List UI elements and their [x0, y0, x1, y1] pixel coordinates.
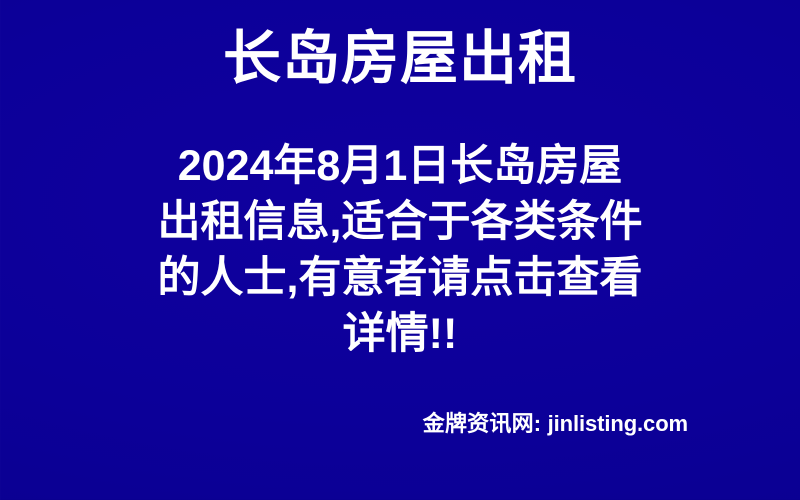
rental-ad-banner: 长岛房屋出租 2024年8月1日长岛房屋 出租信息,适合于各类条件 的人士,有意…: [0, 0, 800, 500]
body-line-1: 2024年8月1日长岛房屋: [60, 138, 740, 194]
body-line-2: 出租信息,适合于各类条件: [60, 194, 740, 250]
footer-brand-label: 金牌资讯网:: [423, 411, 542, 436]
footer-website-url[interactable]: jinlisting.com: [548, 411, 688, 436]
banner-content: 长岛房屋出租 2024年8月1日长岛房屋 出租信息,适合于各类条件 的人士,有意…: [0, 0, 800, 500]
banner-headline: 长岛房屋出租: [0, 28, 800, 91]
body-line-3: 的人士,有意者请点击查看: [60, 250, 740, 306]
banner-footer: 金牌资讯网: jinlisting.com: [0, 406, 688, 438]
banner-body-copy: 2024年8月1日长岛房屋 出租信息,适合于各类条件 的人士,有意者请点击查看 …: [60, 138, 740, 362]
body-line-4: 详情!!: [60, 306, 740, 362]
